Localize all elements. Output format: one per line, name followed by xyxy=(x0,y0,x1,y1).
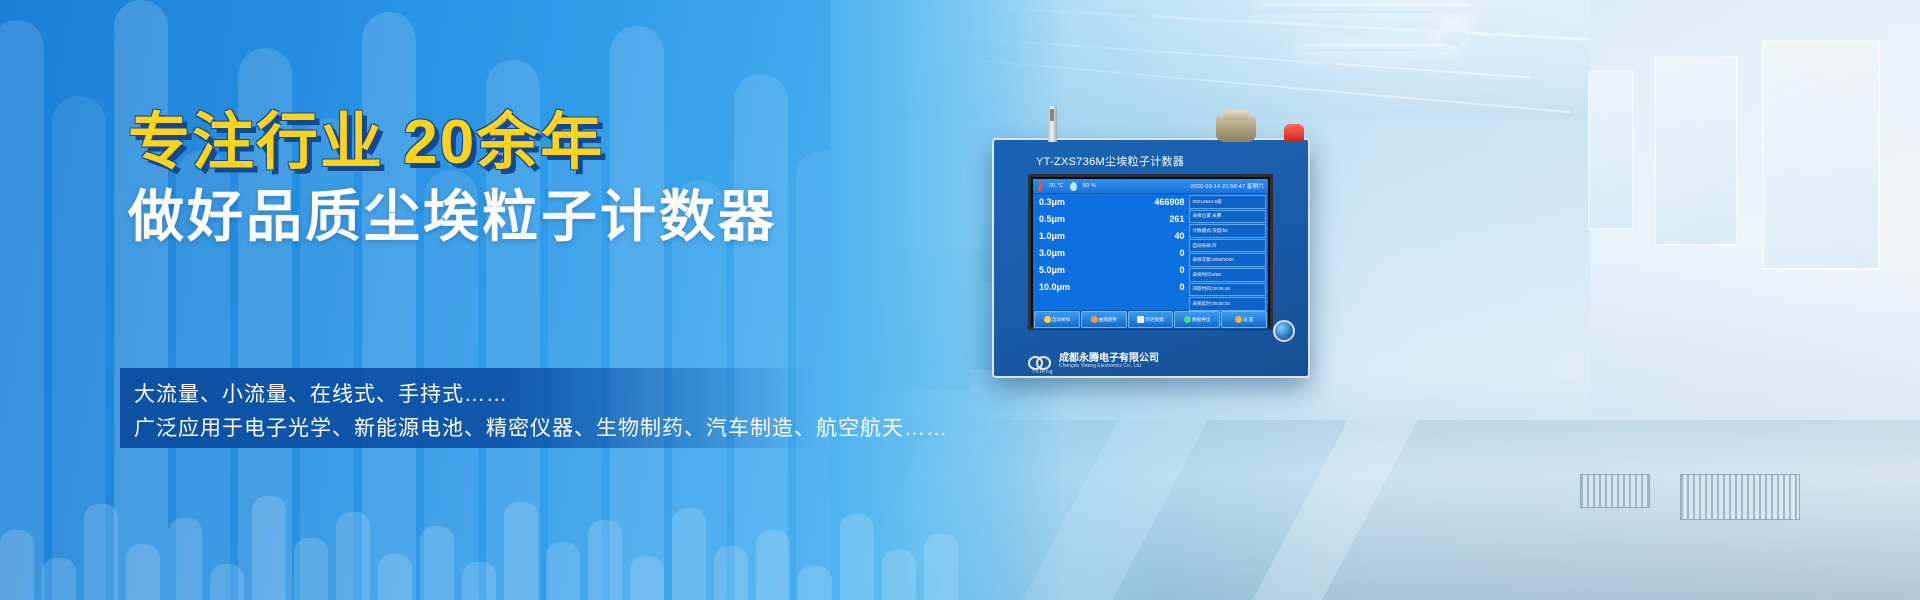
humidity-drop-icon xyxy=(1070,182,1077,191)
info-row: 自动采样:开 xyxy=(1189,239,1266,253)
auto-sample-icon xyxy=(1044,316,1051,323)
info-row: 采样次数:0050/1000 xyxy=(1189,253,1266,267)
particle-size-label: 0.3μm xyxy=(1039,197,1065,207)
curve-trend-button[interactable]: 曲线趋势 xyxy=(1081,311,1127,328)
particle-count-value: 0 xyxy=(1179,248,1184,258)
yoteng-logo-icon xyxy=(1028,355,1054,367)
particle-count-value: 261 xyxy=(1169,214,1184,224)
info-row: 间歇时间:00:06:46 xyxy=(1189,283,1266,297)
gear-icon xyxy=(1235,316,1242,323)
headline-secondary: 做好品质尘埃粒子计数器 xyxy=(128,187,888,247)
settings-label: 设 置 xyxy=(1243,317,1253,323)
humidity-value: 50 % xyxy=(1083,183,1096,189)
particle-size-label: 1.0μm xyxy=(1039,231,1065,241)
company-name-en: Chengdu Yoteng Electronics Co., Ltd. xyxy=(1059,364,1159,370)
particle-counter-device: YT-ZXS736M尘埃粒子计数器 20 ℃ 50 % 2020-03-14 2… xyxy=(992,138,1310,378)
history-data-button[interactable]: 历史数据 xyxy=(1128,311,1174,328)
info-row: 采样延时:00:00:03 xyxy=(1189,297,1266,311)
headline-primary: 专注行业 20余年 xyxy=(128,110,888,175)
data-export-button[interactable]: 数据导出 xyxy=(1174,311,1220,328)
temperature-value: 20 ℃ xyxy=(1049,183,1064,189)
table-row: 10.0μm 0 xyxy=(1039,282,1184,299)
info-row: ISO14644 5级 xyxy=(1189,195,1266,209)
temperature-probe-icon xyxy=(1048,106,1057,142)
subtitle-line-2: 广泛应用于电子光学、新能源电池、精密仪器、生物制药、汽车制造、航空航天…… xyxy=(134,412,820,446)
subtitle-box: 大流量、小流量、在线式、手持式…… 广泛应用于电子光学、新能源电池、精密仪器、生… xyxy=(120,368,820,448)
table-row: 0.3μm 466908 xyxy=(1039,197,1184,214)
particle-count-value: 40 xyxy=(1174,231,1184,241)
screen-button-bar: 自动采样 曲线趋势 历史数据 数据导出 xyxy=(1033,310,1268,329)
auto-sample-label: 自动采样 xyxy=(1052,317,1070,323)
info-row: 采样时间:6/60 xyxy=(1189,268,1266,282)
info-row: 计数模式:浓度/ft3 xyxy=(1189,224,1266,238)
screen-info-panel: ISO14644 5级 采样位置:永腾 计数模式:浓度/ft3 自动采样:开 采… xyxy=(1188,194,1268,310)
settings-button[interactable]: 设 置 xyxy=(1221,311,1267,328)
info-row: 采样位置:永腾 xyxy=(1189,210,1266,224)
data-export-label: 数据导出 xyxy=(1192,317,1210,323)
subtitle-line-1: 大流量、小流量、在线式、手持式…… xyxy=(134,378,820,412)
particle-size-label: 10.0μm xyxy=(1039,282,1070,292)
table-row: 1.0μm 40 xyxy=(1039,231,1184,248)
thermometer-icon xyxy=(1037,181,1043,191)
sample-inlet-icon xyxy=(1216,116,1256,142)
table-row: 0.5μm 261 xyxy=(1039,214,1184,231)
particle-size-table: 0.3μm 466908 0.5μm 261 1.0μm 40 3.0μm xyxy=(1033,194,1188,310)
history-data-label: 历史数据 xyxy=(1145,317,1163,323)
table-row: 3.0μm 0 xyxy=(1039,248,1184,265)
particle-count-value: 0 xyxy=(1179,282,1184,292)
power-indicator-icon[interactable] xyxy=(1273,320,1295,342)
alarm-light-icon xyxy=(1284,124,1304,142)
screen-status-bar: 20 ℃ 50 % 2020-03-14 21:58:47 星期六 xyxy=(1033,179,1268,194)
headline-block: 专注行业 20余年 做好品质尘埃粒子计数器 xyxy=(128,110,888,248)
device-branding: 成都永腾电子有限公司 Chengdu Yoteng Electronics Co… xyxy=(1028,353,1273,370)
decorative-bottom-bars xyxy=(0,470,1200,600)
logo-wordmark: Yoteng xyxy=(1032,369,1053,375)
particle-size-label: 3.0μm xyxy=(1039,248,1065,258)
particle-size-label: 0.5μm xyxy=(1039,214,1065,224)
curve-trend-label: 曲线趋势 xyxy=(1099,317,1117,323)
datetime-value: 2020-03-14 21:58:47 星期六 xyxy=(1190,182,1264,190)
history-data-icon xyxy=(1137,316,1144,323)
data-export-icon xyxy=(1184,316,1191,323)
device-model-title: YT-ZXS736M尘埃粒子计数器 xyxy=(1036,153,1184,169)
auto-sample-button[interactable]: 自动采样 xyxy=(1034,311,1080,328)
particle-count-value: 0 xyxy=(1179,265,1184,275)
curve-trend-icon xyxy=(1091,316,1098,323)
particle-size-label: 5.0μm xyxy=(1039,265,1065,275)
promo-banner: 专注行业 20余年 做好品质尘埃粒子计数器 大流量、小流量、在线式、手持式…… … xyxy=(0,0,1920,600)
device-screen[interactable]: 20 ℃ 50 % 2020-03-14 21:58:47 星期六 0.3μm … xyxy=(1028,174,1273,330)
particle-count-value: 466908 xyxy=(1154,197,1184,207)
table-row: 5.0μm 0 xyxy=(1039,265,1184,282)
